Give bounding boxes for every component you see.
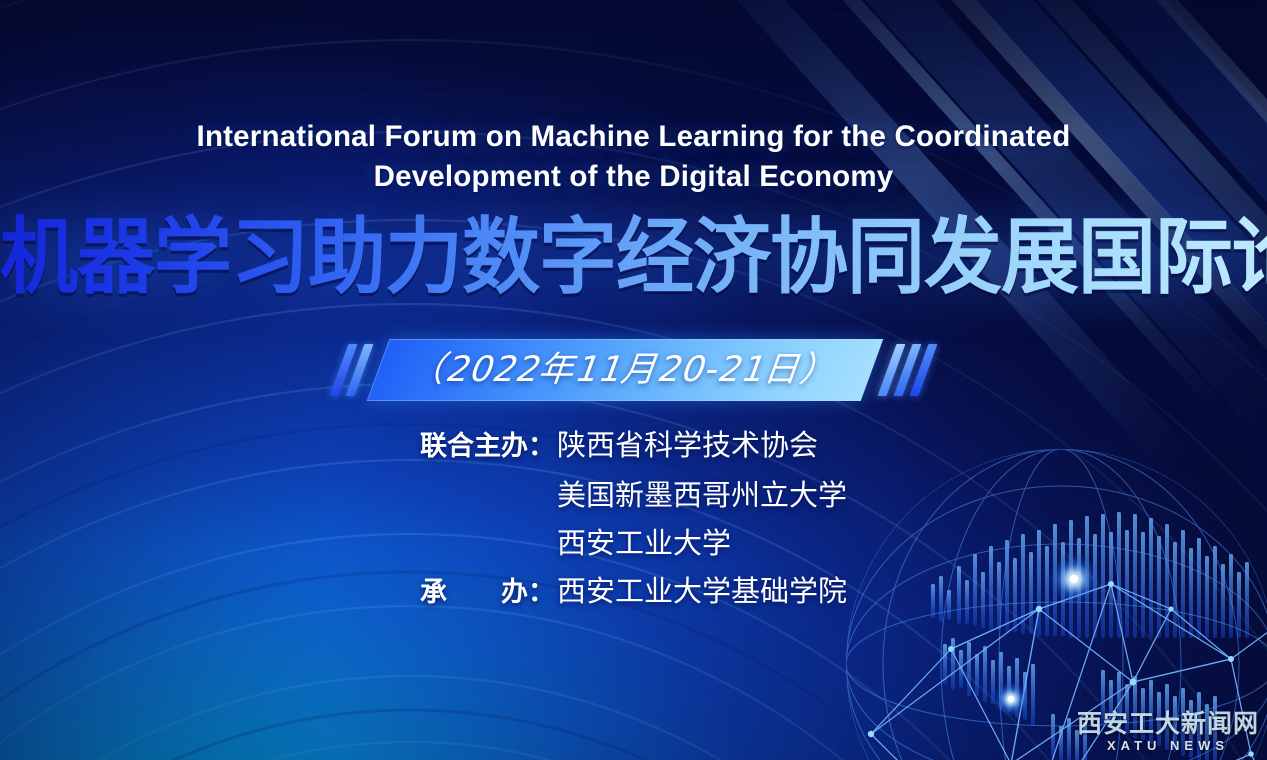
organizer-label: 联合主办：: [420, 423, 557, 471]
organizer-value: 西安工业大学基础学院: [557, 567, 847, 615]
english-title: International Forum on Machine Learning …: [0, 117, 1267, 197]
watermark-chinese: 西安工大新闻网: [1077, 710, 1259, 738]
english-title-line-2: Development of the Digital Economy: [44, 157, 1223, 197]
watermark-english: XATU NEWS: [1077, 738, 1259, 754]
chinese-title: 机器学习助力数字经济协同发展国际论坛: [0, 209, 1267, 307]
english-title-line-1: International Forum on Machine Learning …: [44, 117, 1223, 157]
organizer-value: 美国新墨西哥州立大学: [557, 471, 847, 519]
date-plate: （2022年11月20-21日）: [367, 339, 884, 401]
forum-poster: International Forum on Machine Learning …: [0, 0, 1267, 760]
watermark: 西安工大新闻网 XATU NEWS: [1077, 710, 1259, 754]
organizers-block: 联合主办： 陕西省科学技术协会 美国新墨西哥州立大学 西安工业大学 承 办： 西…: [0, 421, 1267, 617]
date-text: （2022年11月20-21日）: [375, 350, 876, 390]
organizer-value: 陕西省科学技术协会: [557, 421, 847, 469]
organizer-value: 西安工业大学: [557, 519, 847, 567]
ribbon-slashes-left: [339, 344, 364, 396]
date-ribbon: （2022年11月20-21日）: [0, 339, 1267, 401]
organizer-label: 承 办：: [420, 569, 557, 617]
ribbon-slashes-right: [887, 344, 928, 396]
